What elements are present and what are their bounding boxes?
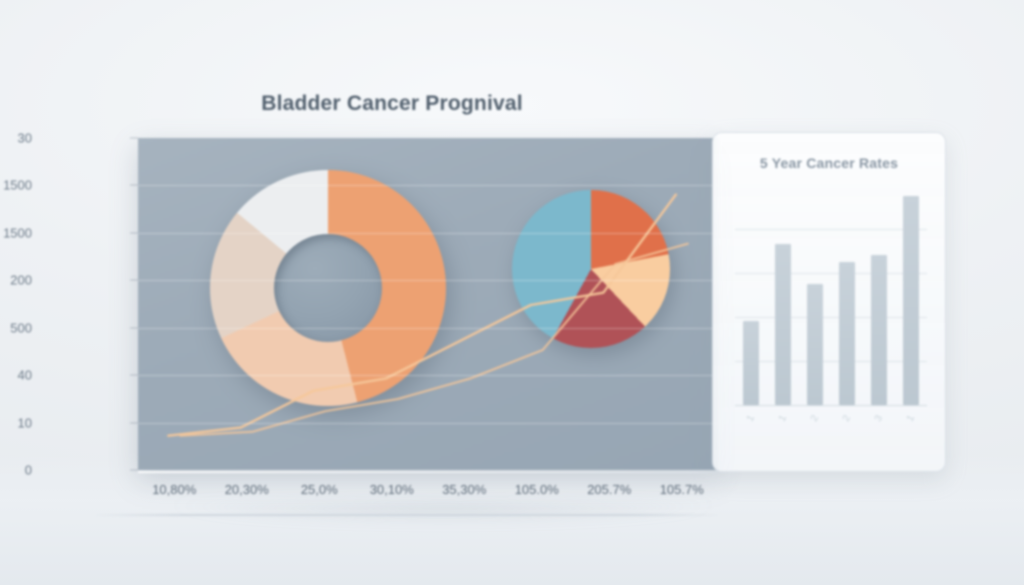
y-axis-tick-mark <box>130 422 138 423</box>
gridline <box>138 423 718 424</box>
bar <box>903 196 919 405</box>
bar <box>871 255 887 405</box>
plot-area <box>138 138 718 470</box>
y-axis-tick-mark <box>130 470 138 471</box>
y-axis-tick-mark <box>130 185 138 186</box>
bar-chart-gridline <box>735 361 927 362</box>
bar-chart-tick-label: 1 <box>745 413 757 423</box>
bar-chart-gridline <box>735 317 927 318</box>
soft-focus-layer: Bladder Cancer Prognival 301500150020050… <box>0 0 1024 585</box>
bar-chart-gridline <box>735 273 927 274</box>
y-axis-tick-label: 10 <box>0 415 32 430</box>
y-axis-tick-mark <box>130 280 138 281</box>
bar <box>807 284 823 405</box>
bar-chart-tick-label: 2 <box>809 413 821 423</box>
x-axis-rule <box>138 471 718 473</box>
bar <box>839 262 855 405</box>
y-axis-tick-label: 30 <box>0 131 32 146</box>
x-axis-tick-label: 105.7% <box>639 482 725 497</box>
board-baseline <box>92 514 722 516</box>
y-axis-tick-label: 500 <box>0 320 32 335</box>
gridline <box>138 185 718 186</box>
y-axis-tick-mark <box>130 138 138 139</box>
gridline <box>138 233 718 234</box>
bar-chart-tick-label: 3 <box>873 413 885 423</box>
line-series-group <box>138 138 718 470</box>
bar-chart-tick-label: 1 <box>777 413 789 423</box>
bar-chart-plot: 112231 <box>735 185 927 405</box>
gridline <box>138 280 718 281</box>
y-axis-tick-mark <box>130 327 138 328</box>
y-axis-tick-mark <box>130 232 138 233</box>
line-series-1 <box>168 195 676 436</box>
y-axis-tick-label: 1500 <box>0 178 32 193</box>
y-axis-tick-label: 1500 <box>0 225 32 240</box>
y-axis-tick-label: 40 <box>0 368 32 383</box>
bar-chart-baseline <box>735 405 927 406</box>
gridline <box>138 375 718 376</box>
bar <box>775 244 791 405</box>
bar <box>743 321 759 405</box>
gridline <box>138 328 718 329</box>
bar-chart-gridline <box>735 229 927 230</box>
bar-chart-tick-label: 1 <box>905 413 917 423</box>
card-title: 5 Year Cancer Rates <box>713 155 945 171</box>
y-axis-tick-label: 200 <box>0 273 32 288</box>
line-series-2 <box>180 244 688 436</box>
side-panel-card[interactable]: 5 Year Cancer Rates 112231 <box>712 132 946 472</box>
y-axis-tick-label: 0 <box>0 463 32 478</box>
y-axis-tick-mark <box>130 375 138 376</box>
main-chart-board: Bladder Cancer Prognival 301500150020050… <box>62 78 722 518</box>
bar-chart-tick-label: 2 <box>841 413 853 423</box>
